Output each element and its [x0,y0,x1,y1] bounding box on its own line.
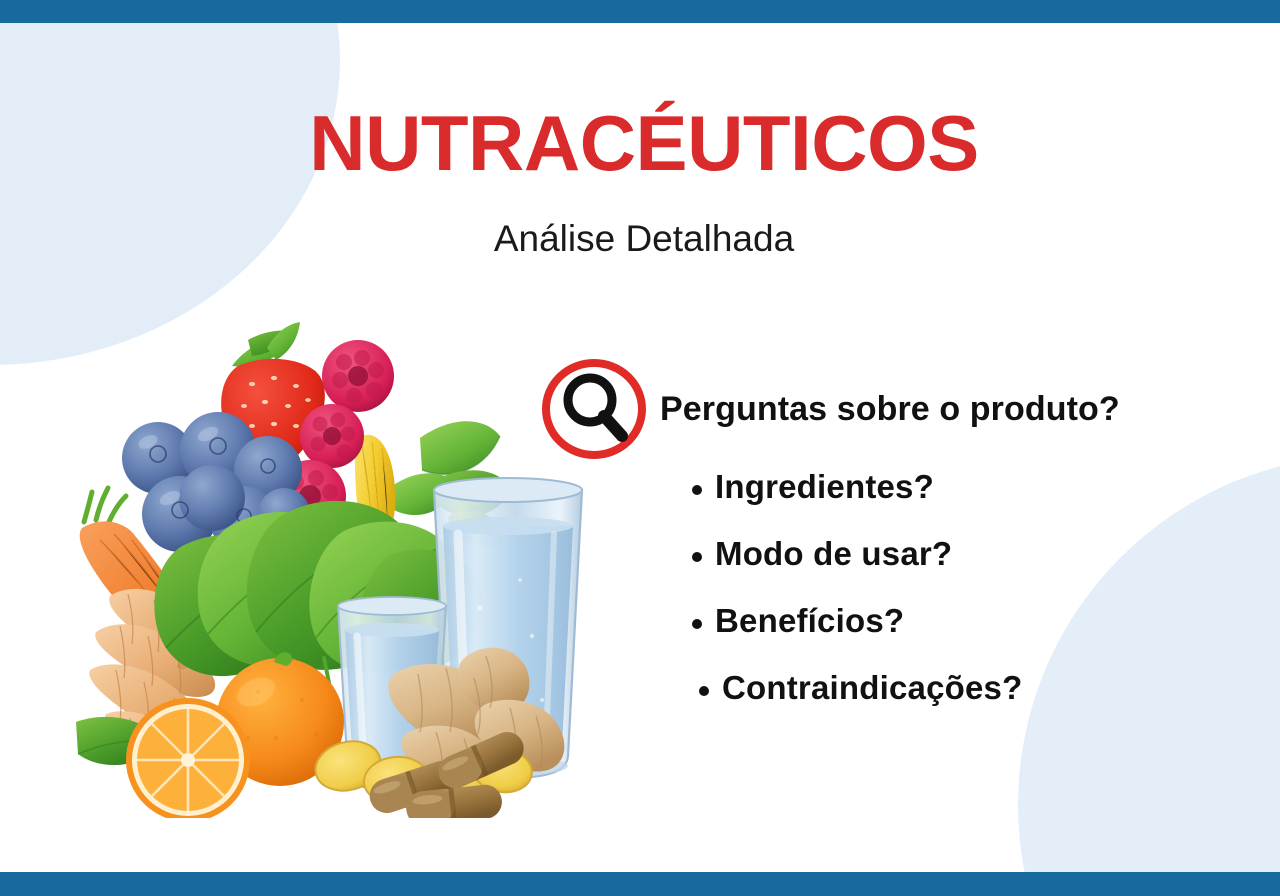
raspberry-mid [300,404,364,468]
question-heading-row: Perguntas sobre o produto? [538,356,1120,462]
list-item: Benefícios? [686,602,1022,640]
list-item: Contraindicações? [686,669,1022,707]
orange-half [126,698,250,818]
decorative-blob-bottom-right [1018,455,1280,896]
magnifier-icon [538,356,650,462]
slide-canvas: NUTRACÉUTICOS Análise Detalhada [0,0,1280,896]
page-subtitle: Análise Detalhada [0,219,1280,260]
top-accent-bar [0,0,1280,23]
bottom-accent-bar [0,872,1280,896]
decorative-blob-top-left [0,0,340,365]
raspberry-top [322,340,394,412]
list-item: Modo de usar? [686,535,1022,573]
page-title: NUTRACÉUTICOS [0,104,1280,182]
list-item: Ingredientes? [686,468,1022,506]
question-bullet-list: Ingredientes? Modo de usar? Benefícios? … [686,468,1022,707]
question-heading-text: Perguntas sobre o produto? [660,390,1120,429]
